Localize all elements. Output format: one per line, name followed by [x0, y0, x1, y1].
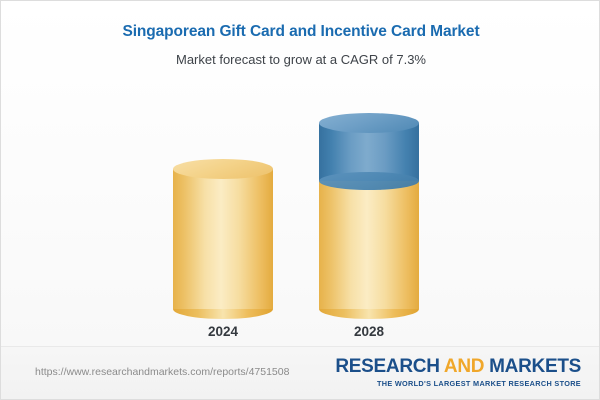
- cylinder-2028: [319, 123, 419, 309]
- logo-tagline: THE WORLD'S LARGEST MARKET RESEARCH STOR…: [335, 379, 581, 388]
- source-url[interactable]: https://www.researchandmarkets.com/repor…: [35, 366, 289, 378]
- bar-group-2028[interactable]: USD 1.9 Billion 2028: [319, 33, 419, 341]
- category-label: 2024: [151, 324, 295, 339]
- logo-word-and: AND: [444, 356, 484, 377]
- category-label: 2028: [297, 324, 441, 339]
- logo-word-markets: MARKETS: [489, 356, 581, 377]
- cylinder-segment-seam-ellipse: [319, 172, 419, 190]
- cylinder-body-base: [173, 169, 273, 309]
- chart-card: Singaporean Gift Card and Incentive Card…: [0, 0, 600, 400]
- cylinder-top-ellipse: [319, 113, 419, 133]
- cylinder-body-base: [319, 181, 419, 309]
- cylinder-2024: [173, 169, 273, 309]
- cylinder-top-ellipse: [173, 159, 273, 179]
- bar-chart-plot-area: USD 1.4 Billion 2024 USD 1.9 Billion 202…: [1, 1, 600, 341]
- logo-word-research: RESEARCH: [335, 356, 439, 377]
- bar-group-2024[interactable]: USD 1.4 Billion 2024: [173, 33, 273, 341]
- research-and-markets-logo[interactable]: RESEARCH AND MARKETS THE WORLD'S LARGEST…: [335, 357, 581, 388]
- footer-bar: https://www.researchandmarkets.com/repor…: [1, 346, 600, 399]
- logo-wordmark: RESEARCH AND MARKETS: [335, 357, 581, 377]
